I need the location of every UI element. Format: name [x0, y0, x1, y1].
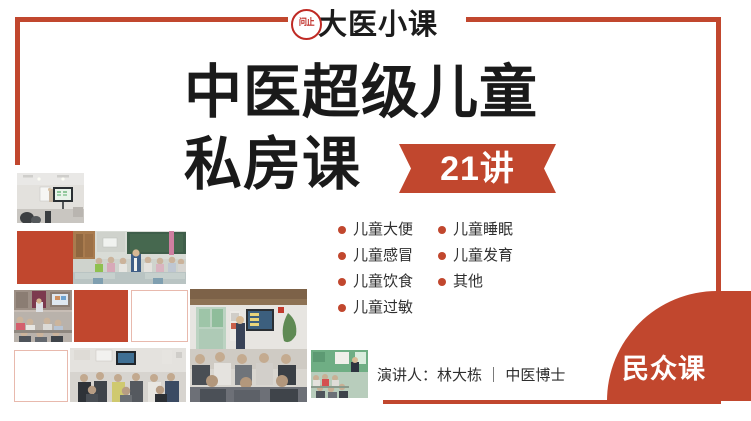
- bullet-dot-icon: [438, 226, 446, 234]
- photo-green-classroom: [311, 350, 368, 398]
- photo-image: [14, 290, 72, 342]
- bullet-dot-icon: [338, 252, 346, 260]
- topic-row: 儿童过敏: [338, 300, 578, 315]
- block-empty-1: [131, 290, 188, 342]
- topic-item: 儿童过敏: [338, 300, 438, 315]
- topic-label: 儿童发育: [453, 248, 513, 263]
- seal-text: 问止: [299, 19, 314, 29]
- poster-canvas: 问止 大医小课 中医超级儿童 私房课 21讲 儿童大便 儿童睡眠 儿童感冒: [0, 0, 751, 421]
- photo-image: [17, 173, 84, 223]
- bullet-dot-icon: [438, 278, 446, 286]
- topic-label: 儿童睡眠: [453, 222, 513, 237]
- bullet-dot-icon: [438, 252, 446, 260]
- photo-image: [190, 289, 307, 402]
- photo-hall-presentation: [190, 289, 307, 402]
- block-red-1: [17, 231, 73, 284]
- bullet-dot-icon: [338, 278, 346, 286]
- block-red-2: [74, 290, 128, 342]
- topic-list: 儿童大便 儿童睡眠 儿童感冒 儿童发育 儿童饮食: [338, 222, 578, 326]
- brand-name: 大医小课: [318, 10, 438, 39]
- title-line-1: 中医超级儿童: [184, 63, 538, 121]
- topic-item: 儿童饮食: [338, 274, 438, 289]
- seal-icon: 问止: [291, 9, 322, 40]
- photo-image: [311, 350, 368, 398]
- frame-border-left: [15, 17, 20, 165]
- topic-item: 儿童大便: [338, 222, 438, 237]
- bullet-dot-icon: [338, 226, 346, 234]
- topic-label: 儿童大便: [353, 222, 413, 237]
- lesson-count-badge: 21讲: [399, 144, 556, 193]
- topic-row: 儿童感冒 儿童发育: [338, 248, 578, 263]
- topic-label: 其他: [453, 274, 483, 289]
- frame-border-top-right: [466, 17, 721, 22]
- topic-label: 儿童过敏: [353, 300, 413, 315]
- topic-row: 儿童饮食 其他: [338, 274, 578, 289]
- brand-logo: 问止 大医小课: [291, 1, 438, 47]
- photo-lecture-whiteboard: [17, 173, 84, 223]
- topic-item: 儿童睡眠: [438, 222, 538, 237]
- topic-label: 儿童饮食: [353, 274, 413, 289]
- photo-audience-back: [70, 348, 186, 402]
- lesson-count-label: 21讲: [440, 152, 515, 186]
- photo-seminar-room: [14, 290, 72, 342]
- photo-image: [70, 348, 186, 402]
- photo-classroom-speaker: [73, 231, 186, 284]
- topic-item: 其他: [438, 274, 538, 289]
- speaker-line: 演讲人：林大栋 ｜ 中医博士: [377, 364, 565, 385]
- topic-row: 儿童大便 儿童睡眠: [338, 222, 578, 237]
- bullet-dot-icon: [338, 304, 346, 312]
- block-empty-2: [14, 350, 68, 402]
- frame-border-top-left: [15, 17, 288, 22]
- corner-label: 民众课: [622, 356, 706, 383]
- topic-item: 儿童发育: [438, 248, 538, 263]
- topic-item: 儿童感冒: [338, 248, 438, 263]
- photo-image: [73, 231, 186, 284]
- title-line-2: 私房课: [184, 135, 361, 193]
- topic-label: 儿童感冒: [353, 248, 413, 263]
